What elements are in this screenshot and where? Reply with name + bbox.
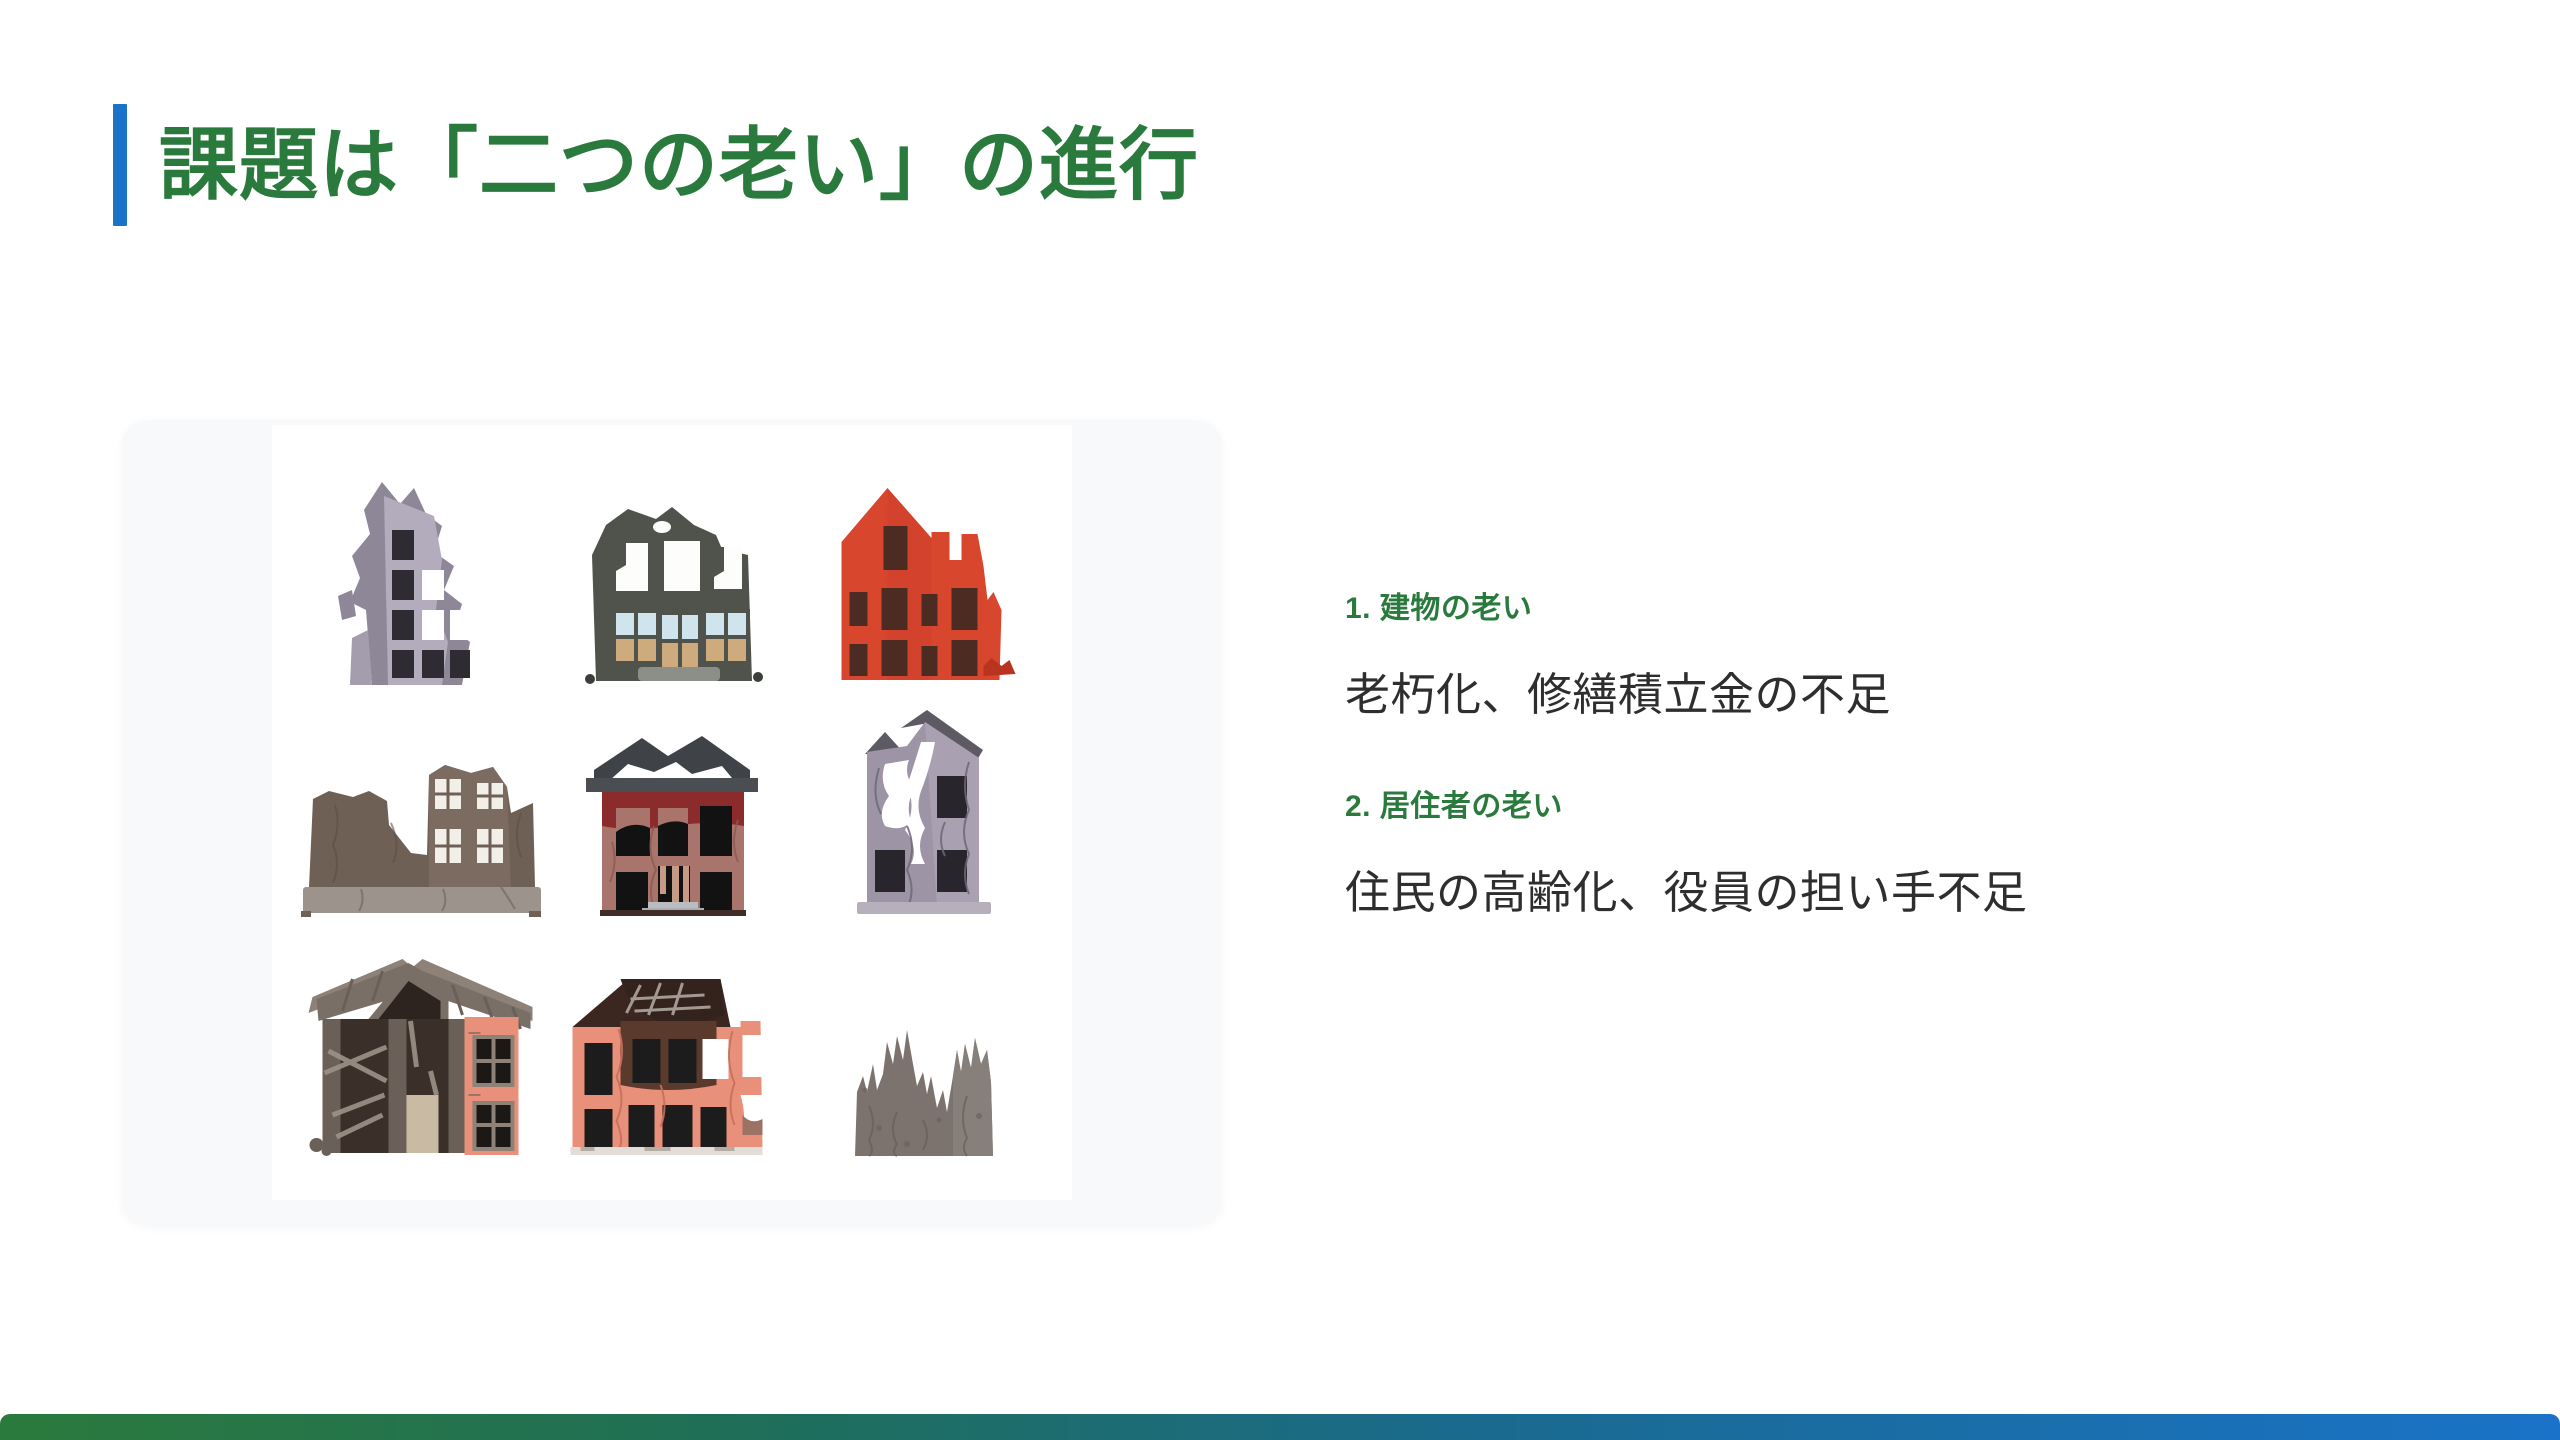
point-body-1: 老朽化、修繕積立金の不足 [1345,667,2425,723]
illustration-grid [272,425,1072,1200]
page-title: 課題は「二つの老い」の進行 [159,124,1199,207]
building-rose-house-dark-roof-ruin [546,691,798,929]
point-heading-2: 2. 居住者の老い [1345,781,2425,825]
slide-canvas: 課題は「二つの老い」の進行 [0,0,2560,1440]
building-cracked-gray-house-ruin [798,691,1050,929]
building-olive-house-ruin [546,453,798,691]
building-gray-rubble-wall-ruin [798,928,1050,1166]
point-body-2: 住民の高齢化、役員の担い手不足 [1345,865,2425,921]
building-wooden-house-gable-ruin [294,928,546,1166]
slide-title-row: 課題は「二つの老い」の進行 [113,104,1199,226]
title-accent-bar [113,104,127,226]
point-item-2: 2. 居住者の老い 住民の高齢化、役員の担い手不足 [1345,781,2425,921]
building-brown-wall-ruin [294,691,546,929]
point-heading-1: 1. 建物の老い [1345,583,2425,627]
building-red-brick-house-ruin [798,453,1050,691]
illustration-card [122,420,1222,1225]
footer-gradient-bar [0,1414,2560,1440]
point-item-1: 1. 建物の老い 老朽化、修繕積立金の不足 [1345,583,2425,723]
ruined-buildings-illustration [272,425,1072,1200]
building-salmon-burnt-house-ruin [546,928,798,1166]
building-gray-apartment-ruin [294,453,546,691]
points-list: 1. 建物の老い 老朽化、修繕積立金の不足 2. 居住者の老い 住民の高齢化、役… [1345,583,2425,922]
